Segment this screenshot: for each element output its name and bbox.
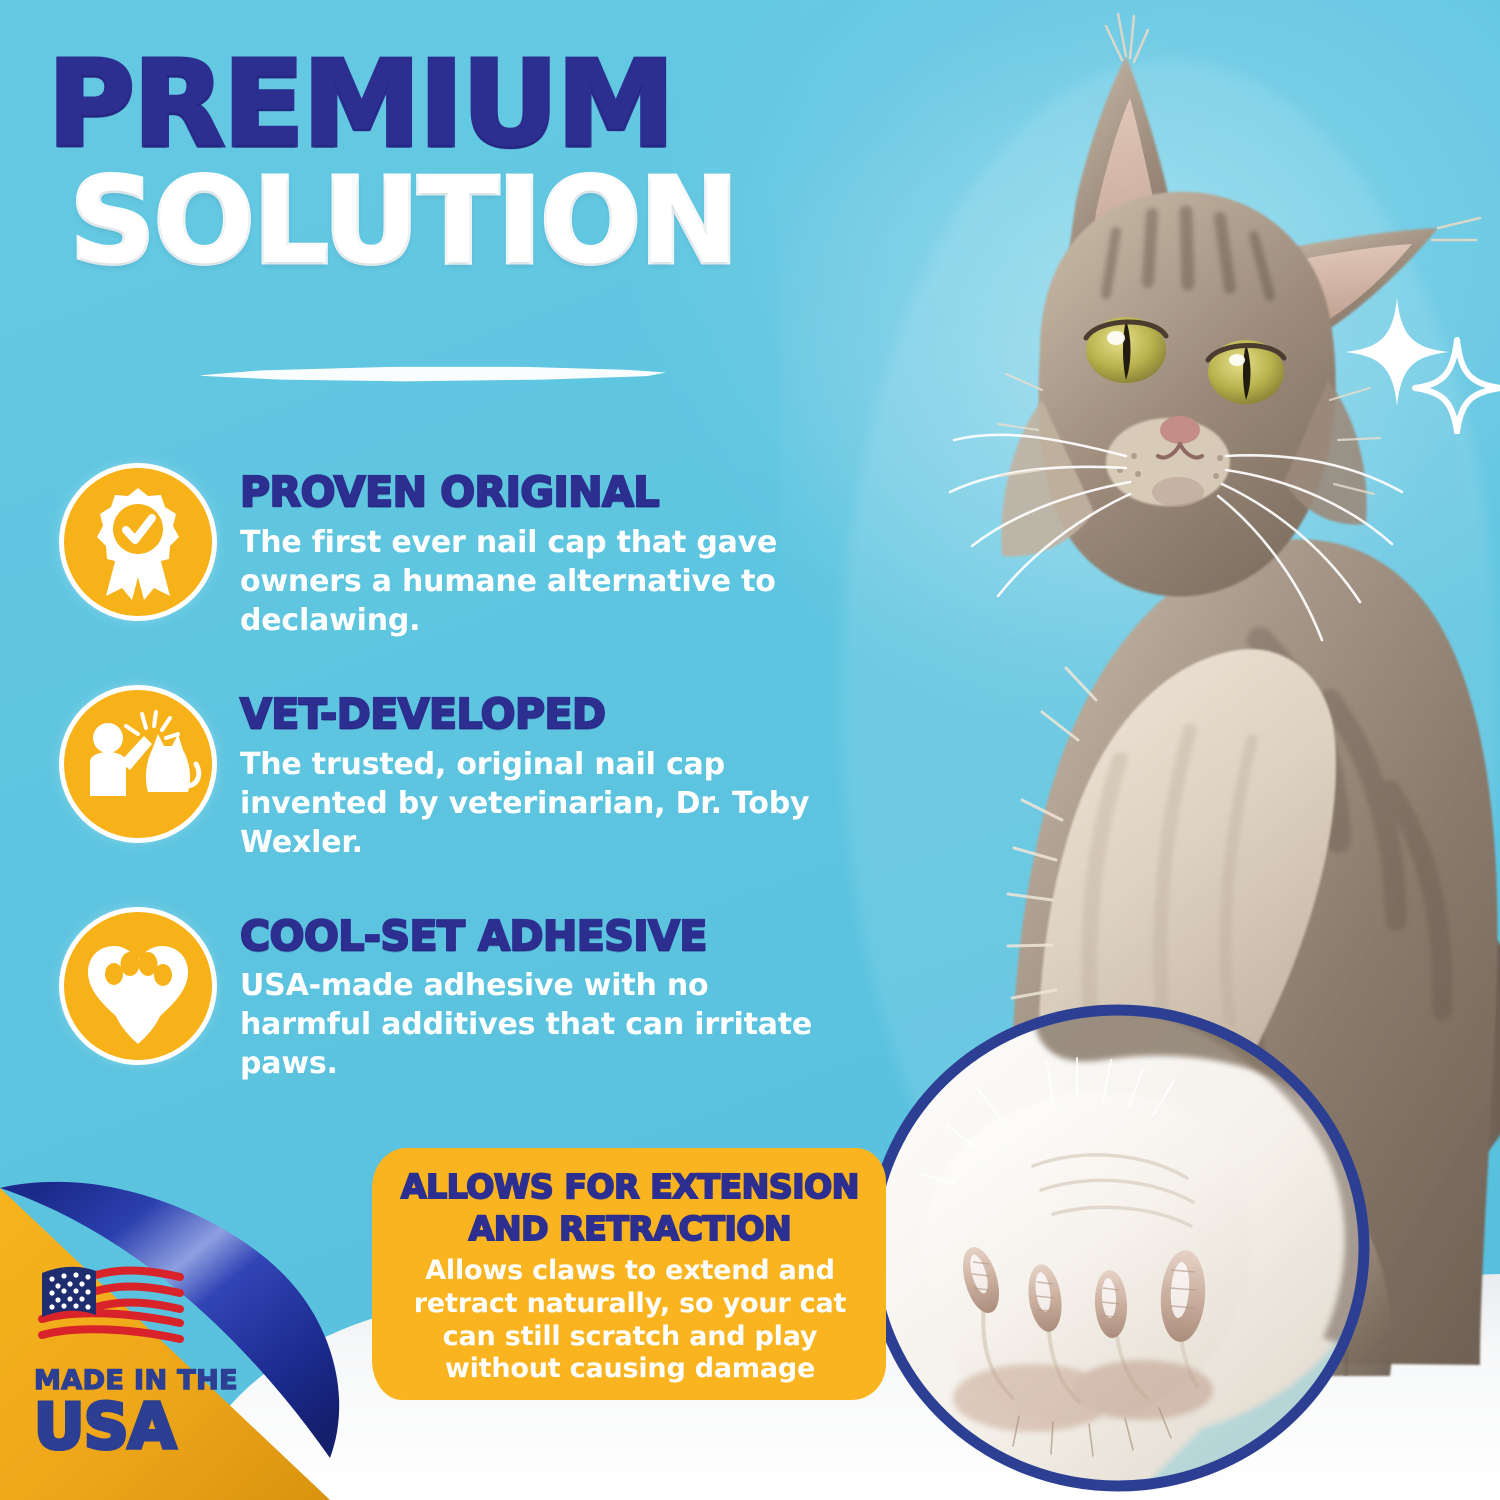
feature-title: VET-DEVELOPED	[240, 694, 840, 736]
feature-body: The first ever nail cap that gave owners…	[240, 523, 840, 640]
paw-heart-icon	[62, 910, 214, 1062]
usa-flag-icon	[34, 1261, 186, 1357]
paw-inset-photo	[853, 998, 1383, 1498]
callout-box: ALLOWS FOR EXTENSION AND RETRACTION Allo…	[372, 1148, 886, 1400]
feature-list: PROVEN ORIGINAL The first ever nail cap …	[62, 466, 862, 1083]
feature-item-proven-original: PROVEN ORIGINAL The first ever nail cap …	[62, 466, 862, 640]
award-ribbon-icon	[62, 466, 214, 618]
feature-title: PROVEN ORIGINAL	[240, 472, 840, 514]
headline-line-2: SOLUTION	[70, 165, 868, 278]
made-in-usa-badge: MADE IN THE USA	[34, 1261, 244, 1458]
feature-item-cool-set-adhesive: COOL-SET ADHESIVE USA-made adhesive with…	[62, 910, 862, 1084]
callout-title-line-1: ALLOWS FOR EXTENSION	[400, 1170, 860, 1204]
callout-title-line-2: AND RETRACTION	[400, 1212, 860, 1246]
headline-line-1: PREMIUM	[48, 50, 868, 159]
sparkle-icons	[1335, 292, 1500, 434]
feature-title: COOL-SET ADHESIVE	[240, 916, 840, 958]
product-infographic: PREMIUM SOLUTION PROVEN ORIGINAL	[0, 0, 1500, 1500]
feature-item-vet-developed: VET-DEVELOPED The trusted, original nail…	[62, 688, 862, 862]
made-in-usa-line-2: USA	[34, 1396, 244, 1458]
callout-body: Allows claws to extend and retract natur…	[400, 1255, 860, 1387]
feature-body: The trusted, original nail cap invented …	[240, 745, 840, 862]
feature-body: USA-made adhesive with no harmful additi…	[240, 966, 840, 1083]
vet-highfive-cat-icon	[62, 688, 214, 840]
headline: PREMIUM SOLUTION	[48, 50, 868, 278]
